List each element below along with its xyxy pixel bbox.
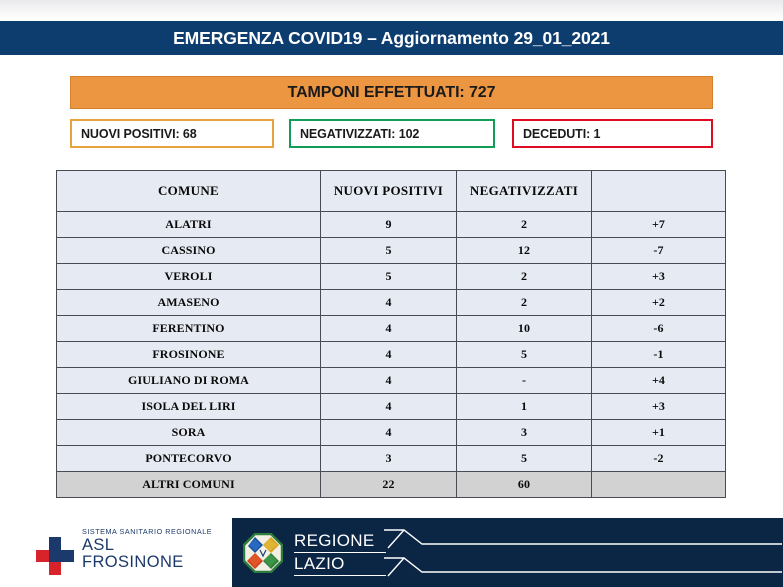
cell-negativizzati: 5 [457, 446, 592, 472]
cell-negativizzati: 12 [457, 238, 592, 264]
regione-lazio-line1: REGIONE [294, 530, 386, 553]
table-row: ALATRI 9 2 +7 [57, 212, 726, 238]
page-title: EMERGENZA COVID19 – Aggiornamento 29_01_… [173, 28, 610, 49]
stat-box-deceduti: DECEDUTI: 1 [512, 119, 713, 148]
cell-negativizzati: 2 [457, 290, 592, 316]
cell-comune: FERENTINO [57, 316, 321, 342]
cell-delta: -7 [592, 238, 726, 264]
asl-name-line2: FROSINONE [82, 554, 184, 571]
cell-nuovi-positivi: 5 [321, 264, 457, 290]
cell-delta: +3 [592, 264, 726, 290]
cell-negativizzati: 2 [457, 264, 592, 290]
cell-nuovi-positivi: 4 [321, 290, 457, 316]
cell-delta: +2 [592, 290, 726, 316]
regione-lazio-line2: LAZIO [294, 553, 386, 576]
cell-delta: -1 [592, 342, 726, 368]
cell-negativizzati: 1 [457, 394, 592, 420]
column-header-comune: COMUNE [57, 171, 321, 212]
cell-nuovi-positivi: 5 [321, 238, 457, 264]
column-header-delta [592, 171, 726, 212]
asl-name-line1: ASL [82, 537, 184, 554]
cell-nuovi-positivi: 9 [321, 212, 457, 238]
stat-box-nuovi-positivi: NUOVI POSITIVI: 68 [70, 119, 274, 148]
cell-comune: GIULIANO DI ROMA [57, 368, 321, 394]
cell-nuovi-positivi: 22 [321, 472, 457, 498]
cell-negativizzati: 5 [457, 342, 592, 368]
cell-delta: +1 [592, 420, 726, 446]
cell-nuovi-positivi: 4 [321, 316, 457, 342]
table-row: SORA 4 3 +1 [57, 420, 726, 446]
column-header-nuovi-positivi: NUOVI POSITIVI [321, 171, 457, 212]
table-header-row: COMUNE NUOVI POSITIVI NEGATIVIZZATI [57, 171, 726, 212]
asl-frosinone-logo: SISTEMA SANITARIO REGIONALE ASL FROSINON… [36, 527, 226, 582]
cell-negativizzati: 3 [457, 420, 592, 446]
cell-negativizzati: 60 [457, 472, 592, 498]
stat-label-negativizzati: NEGATIVIZZATI: 102 [291, 127, 419, 141]
regione-lazio-swoosh-icon [382, 528, 782, 580]
table-header: COMUNE NUOVI POSITIVI NEGATIVIZZATI [57, 171, 726, 212]
asl-cross-icon [36, 537, 74, 575]
column-header-negativizzati: NEGATIVIZZATI [457, 171, 592, 212]
cell-comune: VEROLI [57, 264, 321, 290]
table-body: ALATRI 9 2 +7 CASSINO 5 12 -7 VEROLI 5 2… [57, 212, 726, 498]
cell-comune: FROSINONE [57, 342, 321, 368]
cell-delta [592, 472, 726, 498]
asl-tagline: SISTEMA SANITARIO REGIONALE [82, 527, 212, 536]
cell-delta: -6 [592, 316, 726, 342]
tamponi-banner: TAMPONI EFFETTUATI: 727 [70, 76, 713, 109]
regione-lazio-wordmark: REGIONE LAZIO [294, 530, 386, 576]
tamponi-label: TAMPONI EFFETTUATI: 727 [288, 84, 496, 102]
cell-nuovi-positivi: 4 [321, 420, 457, 446]
cell-nuovi-positivi: 3 [321, 446, 457, 472]
comuni-table-container: COMUNE NUOVI POSITIVI NEGATIVIZZATI ALAT… [56, 170, 725, 498]
table-row: VEROLI 5 2 +3 [57, 264, 726, 290]
cell-delta: +3 [592, 394, 726, 420]
table-row: CASSINO 5 12 -7 [57, 238, 726, 264]
cell-comune: CASSINO [57, 238, 321, 264]
cell-delta: +7 [592, 212, 726, 238]
table-row: AMASENO 4 2 +2 [57, 290, 726, 316]
cell-comune: SORA [57, 420, 321, 446]
cell-comune: ISOLA DEL LIRI [57, 394, 321, 420]
table-row: ISOLA DEL LIRI 4 1 +3 [57, 394, 726, 420]
table-row-altri-comuni: ALTRI COMUNI 22 60 [57, 472, 726, 498]
table-row: FERENTINO 4 10 -6 [57, 316, 726, 342]
stat-label-deceduti: DECEDUTI: 1 [514, 127, 600, 141]
cell-nuovi-positivi: 4 [321, 394, 457, 420]
cell-negativizzati: - [457, 368, 592, 394]
comuni-table: COMUNE NUOVI POSITIVI NEGATIVIZZATI ALAT… [56, 170, 726, 498]
cell-comune: ALTRI COMUNI [57, 472, 321, 498]
cell-comune: PONTECORVO [57, 446, 321, 472]
table-row: GIULIANO DI ROMA 4 - +4 [57, 368, 726, 394]
cell-delta: -2 [592, 446, 726, 472]
table-row: PONTECORVO 3 5 -2 [57, 446, 726, 472]
regione-lazio-footer: REGIONE LAZIO [232, 518, 783, 587]
top-gradient-strip [0, 0, 783, 21]
page-title-bar: EMERGENZA COVID19 – Aggiornamento 29_01_… [0, 21, 783, 55]
regione-lazio-emblem-icon [243, 533, 283, 573]
cell-delta: +4 [592, 368, 726, 394]
cell-nuovi-positivi: 4 [321, 368, 457, 394]
stat-box-negativizzati: NEGATIVIZZATI: 102 [289, 119, 495, 148]
cell-negativizzati: 2 [457, 212, 592, 238]
cell-nuovi-positivi: 4 [321, 342, 457, 368]
stat-label-nuovi-positivi: NUOVI POSITIVI: 68 [72, 127, 197, 141]
cell-comune: ALATRI [57, 212, 321, 238]
asl-name: ASL FROSINONE [82, 537, 184, 571]
cell-negativizzati: 10 [457, 316, 592, 342]
cell-comune: AMASENO [57, 290, 321, 316]
table-row: FROSINONE 4 5 -1 [57, 342, 726, 368]
